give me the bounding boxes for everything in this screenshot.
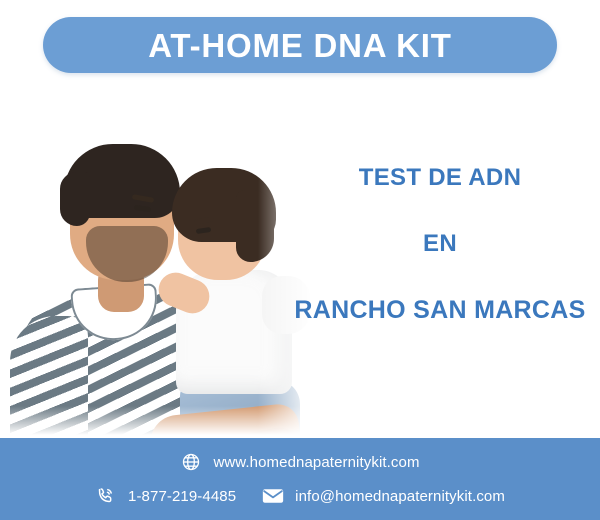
header-banner: AT-HOME DNA KIT bbox=[43, 17, 557, 73]
poster-root: AT-HOME DNA KIT bbox=[0, 0, 600, 520]
footer-phone-text: 1-877-219-4485 bbox=[128, 489, 236, 504]
footer-email[interactable]: info@homednapaternitykit.com bbox=[262, 485, 505, 507]
headline-line-2: EN bbox=[290, 232, 590, 256]
man-hair-side bbox=[60, 172, 90, 226]
footer-website[interactable]: www.homednapaternitykit.com bbox=[180, 451, 419, 473]
footer-row-website: www.homednapaternitykit.com bbox=[0, 451, 600, 473]
headline-line-1: TEST DE ADN bbox=[290, 166, 590, 190]
footer-phone[interactable]: 1-877-219-4485 bbox=[95, 485, 236, 507]
globe-icon bbox=[180, 451, 202, 473]
father-holding-toddler-photo bbox=[0, 80, 330, 440]
headline-line-3: RANCHO SAN MARCAS bbox=[290, 298, 590, 323]
footer-website-text: www.homednapaternitykit.com bbox=[213, 455, 419, 470]
headline-block: TEST DE ADN EN RANCHO SAN MARCAS bbox=[290, 150, 590, 323]
phone-icon bbox=[95, 485, 117, 507]
envelope-icon bbox=[262, 485, 284, 507]
photo-bottom-fade bbox=[0, 406, 330, 440]
footer-row-phone-email: 1-877-219-4485 info@homednapaternitykit.… bbox=[0, 485, 600, 507]
hero-photo bbox=[0, 80, 330, 440]
footer-contact-bar: www.homednapaternitykit.com 1-877-219-44… bbox=[0, 438, 600, 520]
page-title: AT-HOME DNA KIT bbox=[148, 29, 451, 62]
footer-email-text: info@homednapaternitykit.com bbox=[295, 489, 505, 504]
